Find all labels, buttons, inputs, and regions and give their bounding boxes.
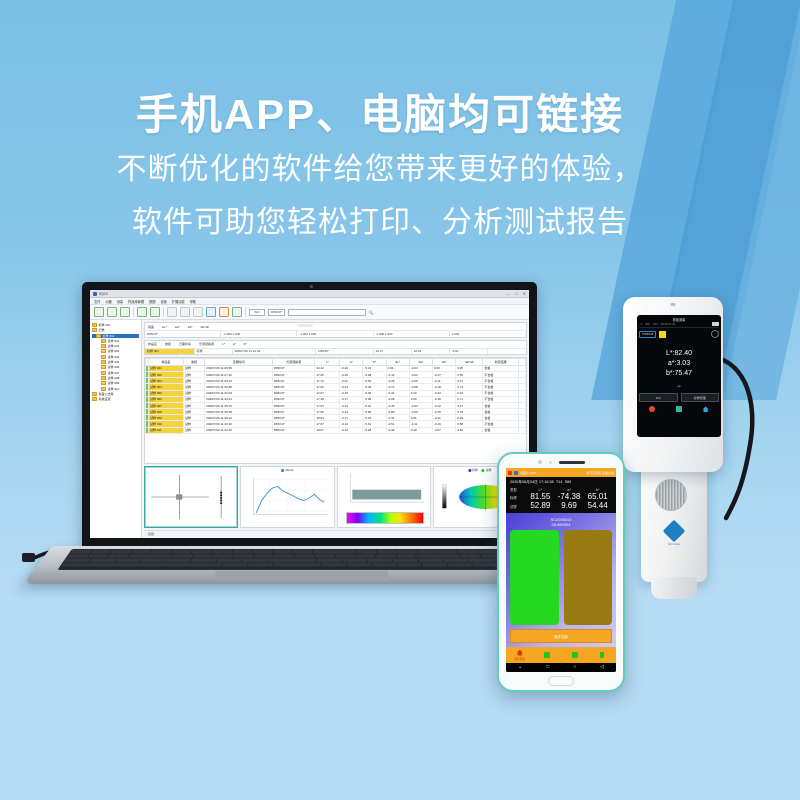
table-cell: 2020/7/20 11:41:42	[205, 427, 273, 433]
phone-top-bezel	[499, 460, 623, 464]
table-body: 试样 001试样2020/7/20 11:26:09D65/10°33.42-0…	[146, 365, 526, 433]
keyboard-key[interactable]	[89, 558, 115, 562]
keyboard-key[interactable]	[242, 558, 267, 562]
standard-panel: 样品名 类别 日期时间 光源观察者 L* a* b* 标样 001 标样 202…	[144, 340, 527, 356]
tree-node[interactable]: 试样 003	[92, 349, 139, 353]
app-bar-title: 色差仪 APP	[520, 471, 536, 475]
keyboard-key[interactable]	[437, 550, 458, 554]
measurement-datetime-line: 2020年08月24日 17:16:38 T14 S89	[510, 480, 612, 485]
keyboard-key[interactable]	[90, 550, 111, 554]
keyboard-key[interactable]	[191, 558, 216, 562]
tree-node[interactable]: 试样 006	[92, 365, 139, 369]
tolerance-cell: D65/10°	[145, 331, 221, 337]
maximize-icon[interactable]: □	[515, 292, 517, 296]
reflectance-svg	[243, 469, 331, 525]
tree-node[interactable]: 试样 004	[92, 355, 139, 359]
measurement-row-standard: 标样 81.55 -74.38 65.01	[510, 492, 612, 501]
standard-cell: 标样	[195, 349, 233, 355]
tree-node[interactable]: 试样 002	[92, 344, 139, 348]
tree-node-label: 试样 003	[108, 349, 120, 353]
nav-item-settings[interactable]	[589, 647, 617, 663]
lab-scatter-svg	[147, 469, 235, 525]
keyboard-key[interactable]	[70, 550, 92, 554]
standard-header-cell: 类别	[165, 342, 171, 346]
colorimeter-device: 3nh color 样品测量 ⎇ SCI SCI 08-25 07:31 T00…	[617, 297, 729, 602]
keyboard-key[interactable]	[457, 550, 478, 554]
folder-icon	[101, 344, 106, 348]
table-cell: 试样 011	[149, 427, 184, 433]
charts-row: ΔE*ab	[144, 466, 527, 528]
standard-a: -74.38	[555, 492, 584, 501]
menu-item-extend[interactable]: 扩展功能	[172, 299, 185, 304]
keyboard-key[interactable]	[397, 563, 422, 567]
folder-icon	[92, 392, 97, 396]
search-icon[interactable]: 🔍	[369, 310, 374, 315]
menu-item-measure[interactable]: 测量	[117, 299, 123, 304]
standard-cell: D65/10°	[316, 349, 373, 355]
gear-icon[interactable]	[711, 330, 719, 338]
th-dL[interactable]: ΔL*	[386, 359, 409, 366]
tolerance-cell: -1.000 1.000	[374, 331, 450, 337]
table-row[interactable]: 试样 011试样2020/7/20 11:41:42D65/10°18.07-0…	[146, 427, 526, 433]
device-button-standard-manage[interactable]: 标样管理	[681, 393, 720, 402]
th-b[interactable]: b*	[363, 359, 386, 366]
folder-icon	[92, 323, 97, 327]
tree-node[interactable]: 记录	[92, 328, 139, 332]
keyboard-key[interactable]	[317, 558, 342, 562]
keyboard-key[interactable]	[460, 554, 481, 558]
front-camera-icon	[538, 460, 542, 464]
standard-cell: -5.01	[450, 349, 488, 355]
keyboard-key[interactable]	[472, 563, 498, 567]
keyboard-key[interactable]	[392, 558, 417, 562]
device-screen[interactable]: 样品测量 ⎇ SCI SCI 08-25 07:31 T00#A18 L*:82…	[637, 315, 721, 437]
measurement-datetime: 2020年08月24日 17:16:38	[510, 480, 554, 484]
android-recents-icon[interactable]: □	[546, 665, 549, 670]
sample-L: 52.89	[526, 501, 555, 510]
keyboard-key[interactable]	[192, 550, 212, 554]
keyboard-key[interactable]	[376, 554, 396, 558]
home-icon	[517, 650, 523, 656]
folder-icon	[101, 360, 106, 364]
tolerance-headers: 容差 ΔL* Δa* Δb* ΔE*ab	[145, 323, 526, 331]
tree-node-label: 标样 001	[103, 334, 115, 338]
legend-item: ΔE*ab	[281, 468, 293, 472]
keyboard-key[interactable]	[140, 558, 166, 562]
measurement-row-sample: 试样 52.89 9.69 54.44	[510, 501, 612, 510]
tree-node-label: 标样 001	[99, 323, 111, 327]
legend-dot-standard	[468, 469, 471, 472]
sample-tree[interactable]: 标样 001 记录 标样 001 试样 001 试样 002 试样 003 试样…	[90, 320, 142, 538]
swatch-delta-e: 28.660004	[510, 522, 612, 527]
legend-dot-sample	[482, 469, 485, 472]
keyboard-key[interactable]	[268, 558, 316, 562]
compare-icon	[544, 652, 550, 658]
keyboard-key[interactable]	[477, 550, 498, 554]
chart-lab-scatter[interactable]	[144, 466, 238, 528]
standard-header-cell: L*	[222, 342, 225, 346]
toolbar-divider	[245, 307, 246, 317]
keyboard-key[interactable]	[417, 550, 437, 554]
device-icon-bar[interactable]	[639, 406, 719, 412]
tree-node-label: 试样 008	[108, 376, 120, 380]
app-title: SQCX	[99, 292, 108, 296]
folder-icon	[101, 339, 106, 343]
illuminant-select[interactable]: D65/10°	[268, 309, 285, 316]
table-cell: D65/10°	[272, 427, 315, 433]
android-back-icon[interactable]: ◁	[600, 665, 604, 670]
device-sensor-icon	[671, 303, 676, 306]
folder-icon	[101, 376, 106, 380]
tree-node[interactable]: 试样 007	[92, 371, 139, 375]
keyboard-key[interactable]	[335, 554, 355, 558]
th-illuminant[interactable]: 光源观察者	[272, 359, 315, 366]
smartphone: 色差仪 APP 蓝牙已连接 设备在线 2020年08月24日 17:16:38 …	[497, 452, 625, 692]
tree-node-label: 试样 004	[108, 355, 120, 359]
menu-item-device[interactable]: 仪器	[105, 299, 111, 304]
th-name[interactable]: 样品名	[149, 359, 184, 366]
window-controls[interactable]: — □ ✕	[506, 292, 526, 296]
device-status-bar: ⎇ SCI SCI 08-25 07:31	[639, 322, 719, 328]
device-logo: 3nh color	[666, 523, 682, 546]
minimize-icon[interactable]: —	[506, 292, 510, 296]
standard-header-cell: 日期时间	[179, 342, 191, 346]
tolerance-cell: -1.000 1.000	[221, 331, 297, 337]
phone-bottom-nav[interactable]: 颜色采集	[506, 647, 616, 663]
keyboard-key[interactable]	[377, 550, 397, 554]
device-value-L: L*:82.40	[639, 349, 719, 359]
tree-node[interactable]: 试样 001	[92, 339, 139, 343]
tree-node-label: 试样 001	[108, 339, 120, 343]
th-type[interactable]: 类别	[184, 359, 205, 366]
status-bar: 就绪 数值	[144, 530, 527, 536]
folder-icon	[92, 328, 97, 332]
legend-label-standard: 标样	[472, 468, 478, 472]
earpiece-speaker-icon	[559, 461, 585, 464]
tree-node[interactable]: 标样 001	[92, 323, 139, 327]
legend-item: 试样	[482, 468, 492, 472]
add-icon[interactable]	[167, 307, 177, 317]
standard-header-cell: 样品名	[148, 342, 157, 346]
device-lab-values: L*:82.40 a*:3.03 b*:75.47	[639, 341, 719, 385]
th-result[interactable]: 判定结果	[483, 359, 518, 366]
close-icon[interactable]: ✕	[523, 292, 526, 296]
keyboard-key[interactable]	[355, 554, 375, 558]
delete-circle-icon[interactable]	[180, 307, 190, 317]
swatch-standard	[510, 530, 559, 625]
standard-header-cell: a*	[233, 342, 236, 346]
app-bar-icon-2	[514, 471, 518, 475]
legend-dot	[281, 469, 284, 472]
tree-node-label: 色差公式库	[99, 392, 114, 396]
device-head: 样品测量 ⎇ SCI SCI 08-25 07:31 T00#A18 L*:82…	[623, 297, 723, 472]
home-icon[interactable]	[703, 406, 709, 412]
tree-node-selected[interactable]: 标样 001	[92, 334, 139, 338]
keyboard-key[interactable]	[367, 558, 392, 562]
keyboard-key[interactable]	[322, 563, 346, 567]
keyboard-key[interactable]	[212, 550, 232, 554]
tolerance-header-cell: ΔE*ab	[201, 325, 210, 329]
keyboard-key[interactable]	[416, 554, 460, 558]
android-home-icon[interactable]: ○	[573, 665, 576, 670]
measurement-t-value: T14	[556, 480, 563, 484]
standard-cell: 34.37	[374, 349, 412, 355]
device-page-dots-icon: ••	[639, 385, 719, 389]
keyboard-key[interactable]	[468, 558, 494, 562]
sample-table[interactable]: 样品名 类别 日期时间 光源观察者 L* a* b* ΔL* Δa* Δb* Δ	[145, 358, 526, 434]
keyboard-key[interactable]	[108, 554, 129, 558]
keyboard-key[interactable]	[372, 563, 397, 567]
tolerance-header-cell: Δb*	[188, 325, 193, 329]
row-label-standard: 标样	[510, 495, 526, 500]
tree-node-label: 试样 002	[108, 344, 120, 348]
keyboard-key[interactable]	[274, 554, 293, 558]
keyboard-key[interactable]	[347, 563, 372, 567]
menu-item-file[interactable]: 文件	[94, 299, 100, 304]
device-status-time: 08-25 07:31	[661, 322, 676, 326]
sample-a: 9.69	[555, 501, 584, 510]
keyboard-key[interactable]	[397, 550, 417, 554]
keyboard-key[interactable]	[171, 550, 191, 554]
tree-node[interactable]: 系统设置	[92, 397, 139, 401]
tolerance-header-cell: 容差	[148, 325, 154, 329]
keyboard-key[interactable]	[295, 554, 314, 558]
keyboard-key[interactable]	[67, 554, 89, 558]
swatch-area: SCI/D65/10 28.660004 蓝牙连接	[506, 513, 616, 647]
menu-bar[interactable]: 文件 仪器 测量 样品库管理 数据 设置 扩展功能 帮助	[90, 298, 529, 305]
device-body: 3nh color	[641, 457, 707, 582]
th-a[interactable]: a*	[340, 359, 363, 366]
search-input[interactable]	[288, 309, 366, 316]
tree-node-label: 试样 006	[108, 365, 120, 369]
standard-header-cell: 光源观察者	[199, 342, 214, 346]
th-L[interactable]: L*	[315, 359, 340, 366]
tree-node[interactable]: 试样 005	[92, 360, 139, 364]
reflectance-legend: ΔE*ab	[281, 468, 293, 472]
history-icon	[572, 652, 578, 658]
headline-sub-line1: 不断优化的软件给您带来更好的体验，	[0, 150, 760, 191]
sample-b: 54.44	[583, 501, 612, 510]
headline-title: 手机APP、电脑均可链接	[0, 92, 760, 138]
keyboard-key[interactable]	[172, 554, 193, 558]
keyboard-key[interactable]	[87, 554, 108, 558]
tree-node[interactable]: 试样 009	[92, 381, 139, 385]
table-cell: -0.46	[386, 427, 409, 433]
laptop-webcam-icon	[310, 285, 313, 288]
device-color-chip	[659, 331, 666, 338]
tree-node-label: 试样 005	[108, 360, 120, 364]
tolerance-panel: 容差 ΔL* Δa* Δb* ΔE*ab D65/10° -1.000 1.00…	[144, 322, 527, 338]
tree-node-label: 记录	[99, 328, 105, 332]
keyboard-key[interactable]	[422, 563, 447, 567]
device-button-sci[interactable]: SCI	[639, 393, 678, 402]
color-settings-icon[interactable]	[232, 307, 242, 317]
folder-icon	[101, 365, 106, 369]
open-file-icon[interactable]	[107, 307, 117, 317]
standard-row[interactable]: 标样 001 标样 2020/7/20 11:21:46 D65/10° 34.…	[145, 349, 526, 355]
menu-item-data[interactable]: 数据	[149, 299, 155, 304]
keyboard-key[interactable]	[418, 558, 444, 562]
new-file-icon[interactable]	[94, 307, 104, 317]
keyboard-key[interactable]	[313, 550, 356, 554]
tree-node[interactable]: 色差公式库	[92, 392, 139, 396]
keyboard-key[interactable]	[128, 554, 173, 558]
device-grille	[655, 479, 687, 511]
nav-item-compare[interactable]	[534, 647, 562, 663]
trash-icon[interactable]	[219, 307, 229, 317]
table-cell: 0.54	[456, 427, 483, 433]
laptop-screen: SQCX — □ ✕ 文件 仪器 测量 样品库管理 数据 设置 扩展功能 帮助	[90, 290, 529, 538]
tolerance-cell: -1.000 1.000	[297, 331, 373, 337]
content-area: 容差 ΔL* Δa* Δb* ΔE*ab D65/10° -1.000 1.00…	[142, 320, 529, 538]
laptop-lip-notch	[297, 324, 313, 327]
nav-item-collect[interactable]: 颜色采集	[506, 647, 534, 663]
th-datetime[interactable]: 日期时间	[205, 359, 273, 366]
std-measure-icon[interactable]	[137, 307, 147, 317]
tolerance-header-cell: ΔL*	[162, 325, 167, 329]
device-tag-row[interactable]: T00#A18	[639, 330, 719, 338]
legend-label-sample: 试样	[486, 468, 492, 472]
toolbar-divider	[163, 307, 164, 317]
keyboard-key[interactable]	[193, 554, 213, 558]
link-icon[interactable]	[193, 307, 203, 317]
keyboard-key[interactable]	[357, 550, 377, 554]
save-icon[interactable]	[120, 307, 130, 317]
keyboard-key[interactable]	[254, 554, 274, 558]
chart-reflectance-line[interactable]: ΔE*ab	[240, 466, 334, 528]
keyboard-key[interactable]	[396, 554, 416, 558]
table-cell: -0.13	[340, 427, 363, 433]
keyboard-key[interactable]	[166, 558, 192, 562]
app-bar: 色差仪 APP 蓝牙已连接 设备在线	[506, 468, 616, 477]
brand-diamond-icon	[663, 520, 686, 543]
keyboard-key[interactable]	[273, 563, 322, 567]
th-db[interactable]: Δb*	[433, 359, 456, 366]
table-cell: 试样	[184, 427, 205, 433]
keyboard-key[interactable]	[222, 563, 247, 567]
standard-cell: 2020/7/20 11:21:46	[233, 349, 317, 355]
device-status-mode1: SCI	[645, 322, 650, 326]
table-cell-filler	[518, 427, 525, 433]
bluetooth-icon: ⎇	[639, 322, 642, 326]
sample-measure-icon[interactable]	[150, 307, 160, 317]
menu-item-library[interactable]: 样品库管理	[128, 299, 144, 304]
app-bar-icon-1	[508, 471, 512, 475]
standard-L: 81.55	[526, 492, 555, 501]
tree-node[interactable]: 试样 008	[92, 376, 139, 380]
measurement-block: 2020年08月24日 17:16:38 T14 S89 类型 L* a* b*…	[506, 477, 616, 513]
toolbar[interactable]: SCI D65/10° 🔍	[90, 305, 529, 320]
chart-color-bar[interactable]	[337, 466, 431, 528]
standard-headers: 样品名 类别 日期时间 光源观察者 L* a* b*	[145, 341, 526, 349]
laptop: SQCX — □ ✕ 文件 仪器 测量 样品库管理 数据 设置 扩展功能 帮助	[52, 282, 557, 592]
keyboard-key[interactable]	[342, 558, 367, 562]
nav-item-history[interactable]	[561, 647, 589, 663]
tolerance-header-cell: Δa*	[175, 325, 180, 329]
folder-icon	[101, 381, 106, 385]
tolerance-cell: 1.000	[450, 331, 526, 337]
app-logo-icon	[93, 292, 97, 296]
th-da[interactable]: Δa*	[409, 359, 432, 366]
chromaticity-legend: 标样 试样	[468, 468, 491, 472]
keyboard-key[interactable]	[447, 563, 473, 567]
android-navigation-bar[interactable]: ⌄ □ ○ ◁	[506, 663, 616, 672]
workspace: 标样 001 记录 标样 001 试样 001 试样 002 试样 003 试样…	[90, 320, 529, 538]
settings-icon	[600, 652, 604, 658]
table-cell: 18.07	[315, 427, 340, 433]
tree-node-label: 试样 007	[108, 371, 120, 375]
report-icon[interactable]	[676, 406, 682, 412]
tolerance-row[interactable]: D65/10° -1.000 1.000 -1.000 1.000 -1.000…	[145, 331, 526, 337]
color-bar-svg	[340, 469, 428, 510]
table-cell: 合格	[483, 427, 518, 433]
swatch-row	[510, 530, 612, 625]
folder-icon	[92, 397, 97, 401]
keyboard-key[interactable]	[111, 550, 132, 554]
keyboard-key[interactable]	[293, 550, 312, 554]
headline-sub-line2: 软件可助您轻松打印、分析测试报告	[0, 203, 760, 244]
keyboard-key[interactable]	[115, 558, 141, 562]
device-base-foot	[651, 577, 697, 599]
standard-cell: 18.16	[412, 349, 450, 355]
measure-mode-select[interactable]: SCI	[249, 309, 265, 316]
tree-node[interactable]: 试样 010	[92, 387, 139, 391]
bluetooth-connect-button[interactable]: 蓝牙连接	[510, 629, 612, 643]
folder-icon	[101, 387, 106, 391]
laptop-trackpad[interactable]	[213, 571, 390, 582]
keyboard-key[interactable]	[217, 558, 242, 562]
device-buttons[interactable]: SCI 标样管理	[639, 393, 719, 402]
th-filler	[518, 359, 525, 366]
android-back-down-icon[interactable]: ⌄	[518, 665, 522, 670]
keyboard-key[interactable]	[151, 550, 172, 554]
th-dE[interactable]: ΔE*ab	[456, 359, 483, 366]
standard-cell: 标样 001	[145, 349, 195, 355]
nav-label-collect: 颜色采集	[515, 657, 525, 661]
device-sample-tag[interactable]: T00#A18	[639, 331, 656, 338]
tree-node-label: 试样 009	[108, 381, 120, 385]
table-cell: -0.07	[433, 427, 456, 433]
phone-screen[interactable]: 色差仪 APP 蓝牙已连接 设备在线 2020年08月24日 17:16:38 …	[506, 468, 616, 672]
keyboard-key[interactable]	[315, 554, 334, 558]
keyboard-key[interactable]	[232, 550, 252, 554]
keyboard-key[interactable]	[273, 550, 292, 554]
sample-table-panel[interactable]: 样品名 类别 日期时间 光源观察者 L* a* b* ΔL* Δa* Δb* Δ	[144, 357, 527, 464]
standard-header-cell: b*	[244, 342, 247, 346]
measurement-s-value: S89	[565, 480, 572, 484]
chart-icon[interactable]	[206, 307, 216, 317]
folder-icon	[101, 355, 106, 359]
keyboard-key[interactable]	[61, 563, 223, 567]
menu-item-help[interactable]: 帮助	[190, 299, 196, 304]
keyboard-key[interactable]	[443, 558, 469, 562]
keyboard-key[interactable]	[64, 558, 91, 562]
keyboard-key[interactable]	[253, 550, 273, 554]
phone-home-button[interactable]	[548, 676, 574, 686]
keyboard-key[interactable]	[248, 563, 273, 567]
status-left: 就绪	[148, 532, 154, 536]
color-icon[interactable]	[649, 406, 655, 412]
laptop-lid: SQCX — □ ✕ 文件 仪器 测量 样品库管理 数据 设置 扩展功能 帮助	[82, 282, 537, 550]
app-bar-status: 蓝牙已连接 设备在线	[586, 471, 614, 475]
menu-item-settings[interactable]: 设置	[160, 299, 166, 304]
keyboard-key[interactable]	[213, 554, 233, 558]
keyboard-key[interactable]	[131, 550, 152, 554]
laptop-keyboard[interactable]	[57, 549, 551, 570]
keyboard-key[interactable]	[234, 554, 254, 558]
device-value-b: b*:75.47	[639, 369, 719, 379]
toolbar-divider	[133, 307, 134, 317]
